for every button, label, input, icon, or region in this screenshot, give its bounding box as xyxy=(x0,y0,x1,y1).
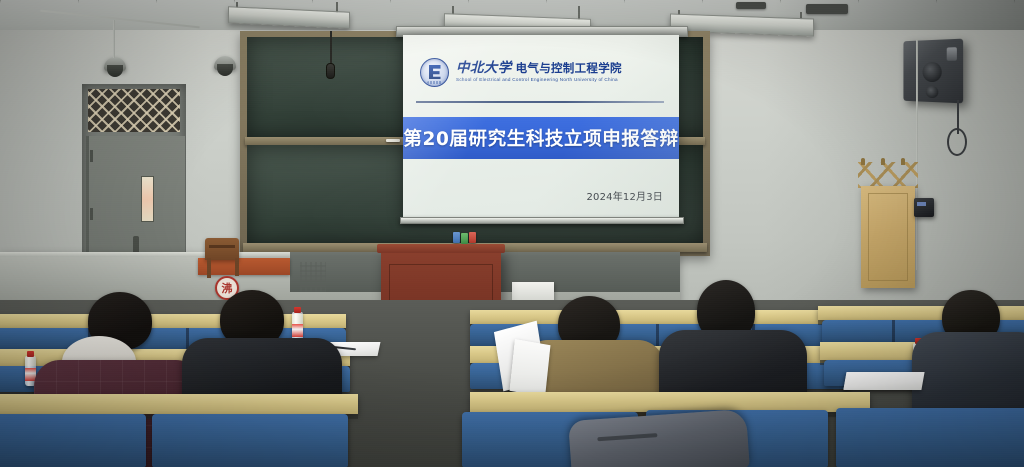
seat-row[interactable] xyxy=(0,414,146,467)
speaker-cone xyxy=(926,86,938,98)
speaker-cable-loop xyxy=(947,128,967,156)
slide-title-band: 第20届研究生科技立项申报答辩 xyxy=(403,117,679,159)
chalk-box xyxy=(453,232,460,243)
slide-header: 中北大学 电气与控制工程学院 School of Electrical and … xyxy=(403,49,679,95)
slide-date: 2024年12月3日 xyxy=(586,188,663,203)
wooden-chair[interactable] xyxy=(205,238,239,260)
bottle-cap xyxy=(27,351,34,357)
university-emblem-icon xyxy=(420,58,449,87)
slide-divider-rule xyxy=(416,101,664,103)
wall-speaker xyxy=(903,39,963,104)
chair-leg xyxy=(235,258,239,276)
ceiling-vent xyxy=(806,4,848,14)
college-english-name: School of Electrical and Control Enginee… xyxy=(456,78,622,83)
projection-screen-weight-bar xyxy=(400,217,684,224)
desk-row xyxy=(470,310,840,324)
bottle-label xyxy=(292,324,303,337)
ceiling-vent xyxy=(736,2,766,9)
microphone-icon xyxy=(326,63,335,79)
door-hinge xyxy=(90,208,93,220)
seat-row[interactable] xyxy=(836,408,1024,467)
desk-row xyxy=(0,394,358,414)
wall-mounted-control-box[interactable] xyxy=(914,198,934,217)
college-name: 电气与控制工程学院 xyxy=(516,63,622,75)
slide-header-text: 中北大学 电气与控制工程学院 School of Electrical and … xyxy=(456,62,622,82)
microphone-cable xyxy=(330,31,332,65)
chalk-stick xyxy=(386,139,400,142)
speaker-tweeter xyxy=(947,47,957,61)
coat-peg[interactable] xyxy=(901,158,905,165)
classroom-photo-scene: 中北大学 电气与控制工程学院 School of Electrical and … xyxy=(0,0,1024,467)
chalk-box xyxy=(469,232,476,243)
bottle-cap xyxy=(294,307,301,313)
white-equipment-box xyxy=(512,282,554,302)
seat-divider xyxy=(892,320,895,342)
printed-handout[interactable] xyxy=(510,339,551,397)
wall-conduit xyxy=(113,20,115,58)
seat-row[interactable] xyxy=(152,414,348,467)
printed-handout[interactable] xyxy=(843,372,924,390)
lectern-top xyxy=(377,244,505,253)
slide-title: 第20届研究生科技立项申报答辩 xyxy=(403,125,678,151)
coat-peg[interactable] xyxy=(861,158,865,165)
desk-row xyxy=(470,392,870,412)
door-hinge xyxy=(90,150,93,162)
projection-screen: 中北大学 电气与控制工程学院 School of Electrical and … xyxy=(403,35,679,217)
speaker-cone xyxy=(923,62,942,82)
door-vision-panel xyxy=(141,176,154,222)
platform-red-panel xyxy=(198,258,290,275)
folding-coat-rack[interactable] xyxy=(858,162,918,188)
chair-leg xyxy=(207,258,211,278)
wall-conduit xyxy=(916,40,918,270)
seat-divider xyxy=(656,324,659,346)
wooden-notice-board xyxy=(861,186,915,288)
wall-vent-grille xyxy=(300,262,326,292)
coat-peg[interactable] xyxy=(881,158,885,165)
university-name: 中北大学 xyxy=(456,62,512,76)
door-transom-grille xyxy=(88,89,180,132)
chalk-box xyxy=(461,233,468,244)
